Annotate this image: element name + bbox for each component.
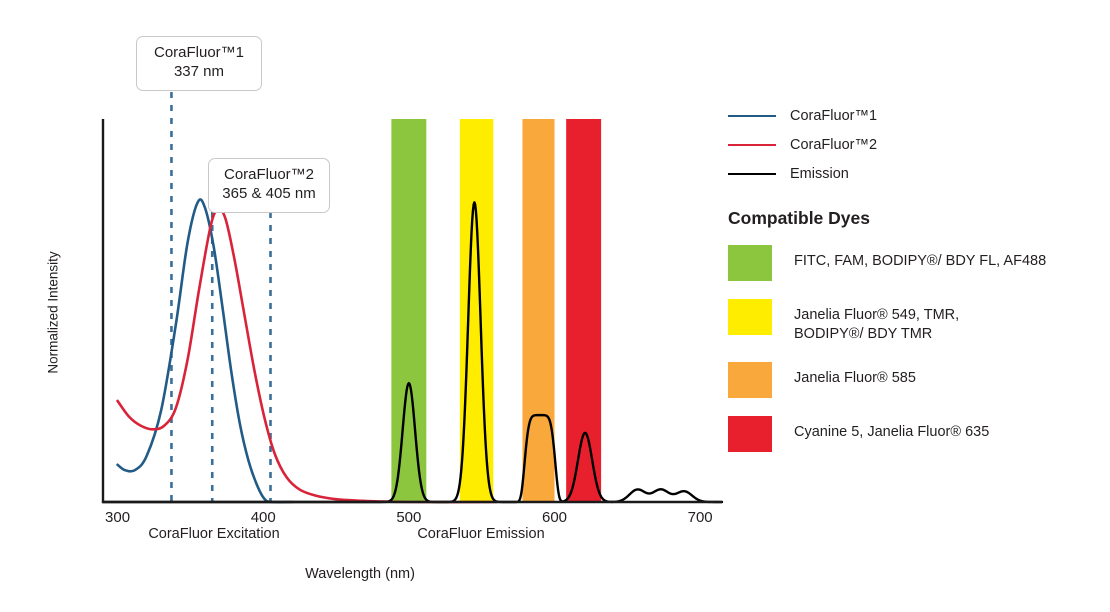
curve-corafluor2 (118, 209, 497, 502)
compatible-dyes-list: FITC, FAM, BODIPY®/ BDY FL, AF488Janelia… (728, 245, 1100, 452)
legend-item-0: CoraFluor™1 (728, 108, 1100, 124)
red-band (566, 119, 601, 502)
curve-corafluor1 (118, 199, 293, 502)
legend-label: Emission (790, 166, 849, 182)
legend-item-2: Emission (728, 166, 1100, 182)
annotation-corafluor1: CoraFluor™1 337 nm (136, 36, 262, 91)
legend-item-1: CoraFluor™2 (728, 137, 1100, 153)
x-tick-300: 300 (88, 509, 148, 526)
dye-item-1: Janelia Fluor® 549, TMR,BODIPY®/ BDY TMR (728, 299, 1100, 344)
dye-label: Cyanine 5, Janelia Fluor® 635 (794, 416, 989, 442)
annotation-corafluor1-line1: CoraFluor™1 (149, 44, 249, 63)
dye-color-swatch (728, 245, 772, 281)
dye-item-3: Cyanine 5, Janelia Fluor® 635 (728, 416, 1100, 452)
dye-label-line1: FITC, FAM, BODIPY®/ BDY FL, AF488 (794, 252, 1046, 271)
dye-label: Janelia Fluor® 585 (794, 362, 916, 388)
x-tick-500: 500 (379, 509, 439, 526)
legend-label: CoraFluor™2 (790, 137, 877, 153)
dye-color-swatch (728, 416, 772, 452)
green-band (391, 119, 426, 502)
annotation-corafluor2-line2: 365 & 405 nm (221, 185, 317, 204)
dye-color-swatch (728, 362, 772, 398)
x-tick-400: 400 (233, 509, 293, 526)
dye-label: Janelia Fluor® 549, TMR,BODIPY®/ BDY TMR (794, 299, 959, 344)
excitation-region-label: CoraFluor Excitation (80, 526, 348, 542)
annotation-corafluor2: CoraFluor™2 365 & 405 nm (208, 158, 330, 213)
dye-label: FITC, FAM, BODIPY®/ BDY FL, AF488 (794, 245, 1046, 271)
annotation-corafluor1-line2: 337 nm (149, 63, 249, 82)
emission-region-label: CoraFluor Emission (350, 526, 612, 542)
dye-label-line1: Cyanine 5, Janelia Fluor® 635 (794, 423, 989, 442)
dye-item-0: FITC, FAM, BODIPY®/ BDY FL, AF488 (728, 245, 1100, 281)
dye-label-line1: Janelia Fluor® 585 (794, 369, 916, 388)
dye-color-swatch (728, 299, 772, 335)
legend-series-list: CoraFluor™1CoraFluor™2Emission (728, 108, 1100, 182)
legend-line-swatch (728, 115, 776, 117)
x-axis-label: Wavelength (nm) (0, 566, 720, 582)
legend: CoraFluor™1CoraFluor™2Emission Compatibl… (728, 108, 1100, 470)
dye-label-line1: Janelia Fluor® 549, TMR, (794, 306, 959, 325)
y-axis-label: Normalized Intensity (46, 218, 61, 408)
legend-line-swatch (728, 144, 776, 146)
legend-label: CoraFluor™1 (790, 108, 877, 124)
annotation-corafluor2-line1: CoraFluor™2 (221, 166, 317, 185)
compatible-dyes-title: Compatible Dyes (728, 208, 1100, 229)
spectra-chart: CoraFluor™1 337 nm CoraFluor™2 365 & 405… (0, 0, 1110, 612)
x-tick-600: 600 (525, 509, 585, 526)
legend-line-swatch (728, 173, 776, 175)
yellow-band (460, 119, 493, 502)
dye-label-line2: BODIPY®/ BDY TMR (794, 325, 959, 344)
x-tick-700: 700 (670, 509, 730, 526)
dye-item-2: Janelia Fluor® 585 (728, 362, 1100, 398)
